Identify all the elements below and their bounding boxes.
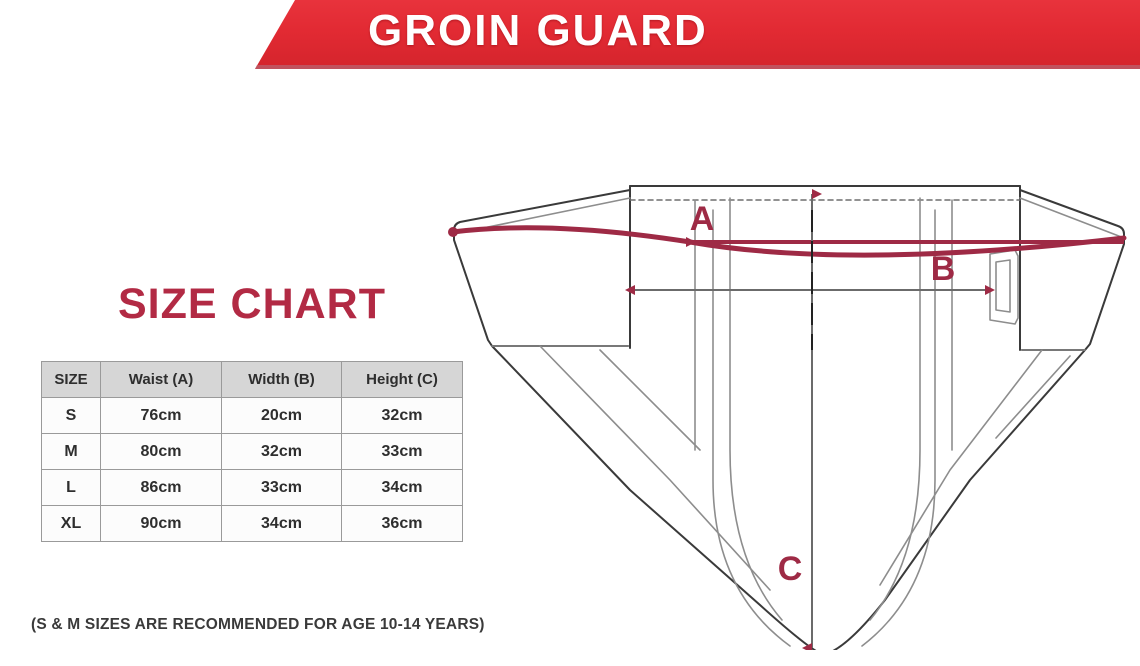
cell-width: 32cm [222, 434, 342, 470]
size-chart-table: SIZE Waist (A) Width (B) Height (C) S 76… [41, 361, 463, 542]
column-header-size: SIZE [42, 362, 101, 398]
age-recommendation-note: (S & M SIZES ARE RECOMMENDED FOR AGE 10-… [31, 616, 485, 634]
table-row: M 80cm 32cm 33cm [42, 434, 463, 470]
banner-bottom-edge [255, 65, 1140, 69]
measurement-label-a: A [690, 200, 715, 238]
column-header-waist: Waist (A) [101, 362, 222, 398]
cell-width: 34cm [222, 506, 342, 542]
header-banner: GROIN GUARD [255, 0, 1140, 69]
product-diagram: A B C [430, 150, 1140, 650]
page-title: GROIN GUARD [255, 0, 1140, 62]
measurement-c: C [778, 194, 812, 648]
cell-size: L [42, 470, 101, 506]
table-header-row: SIZE Waist (A) Width (B) Height (C) [42, 362, 463, 398]
cell-size: M [42, 434, 101, 470]
cell-size: S [42, 398, 101, 434]
table-row: S 76cm 20cm 32cm [42, 398, 463, 434]
measurement-label-c: C [778, 550, 803, 588]
measurement-label-b: B [931, 250, 956, 288]
table-row: L 86cm 33cm 34cm [42, 470, 463, 506]
cell-waist: 76cm [101, 398, 222, 434]
table-row: XL 90cm 34cm 36cm [42, 506, 463, 542]
cell-size: XL [42, 506, 101, 542]
cell-waist: 80cm [101, 434, 222, 470]
size-chart-title: SIZE CHART [118, 283, 386, 326]
cell-width: 20cm [222, 398, 342, 434]
cell-waist: 86cm [101, 470, 222, 506]
cell-waist: 90cm [101, 506, 222, 542]
cell-width: 33cm [222, 470, 342, 506]
column-header-width: Width (B) [222, 362, 342, 398]
measurement-a: A [448, 200, 1124, 255]
